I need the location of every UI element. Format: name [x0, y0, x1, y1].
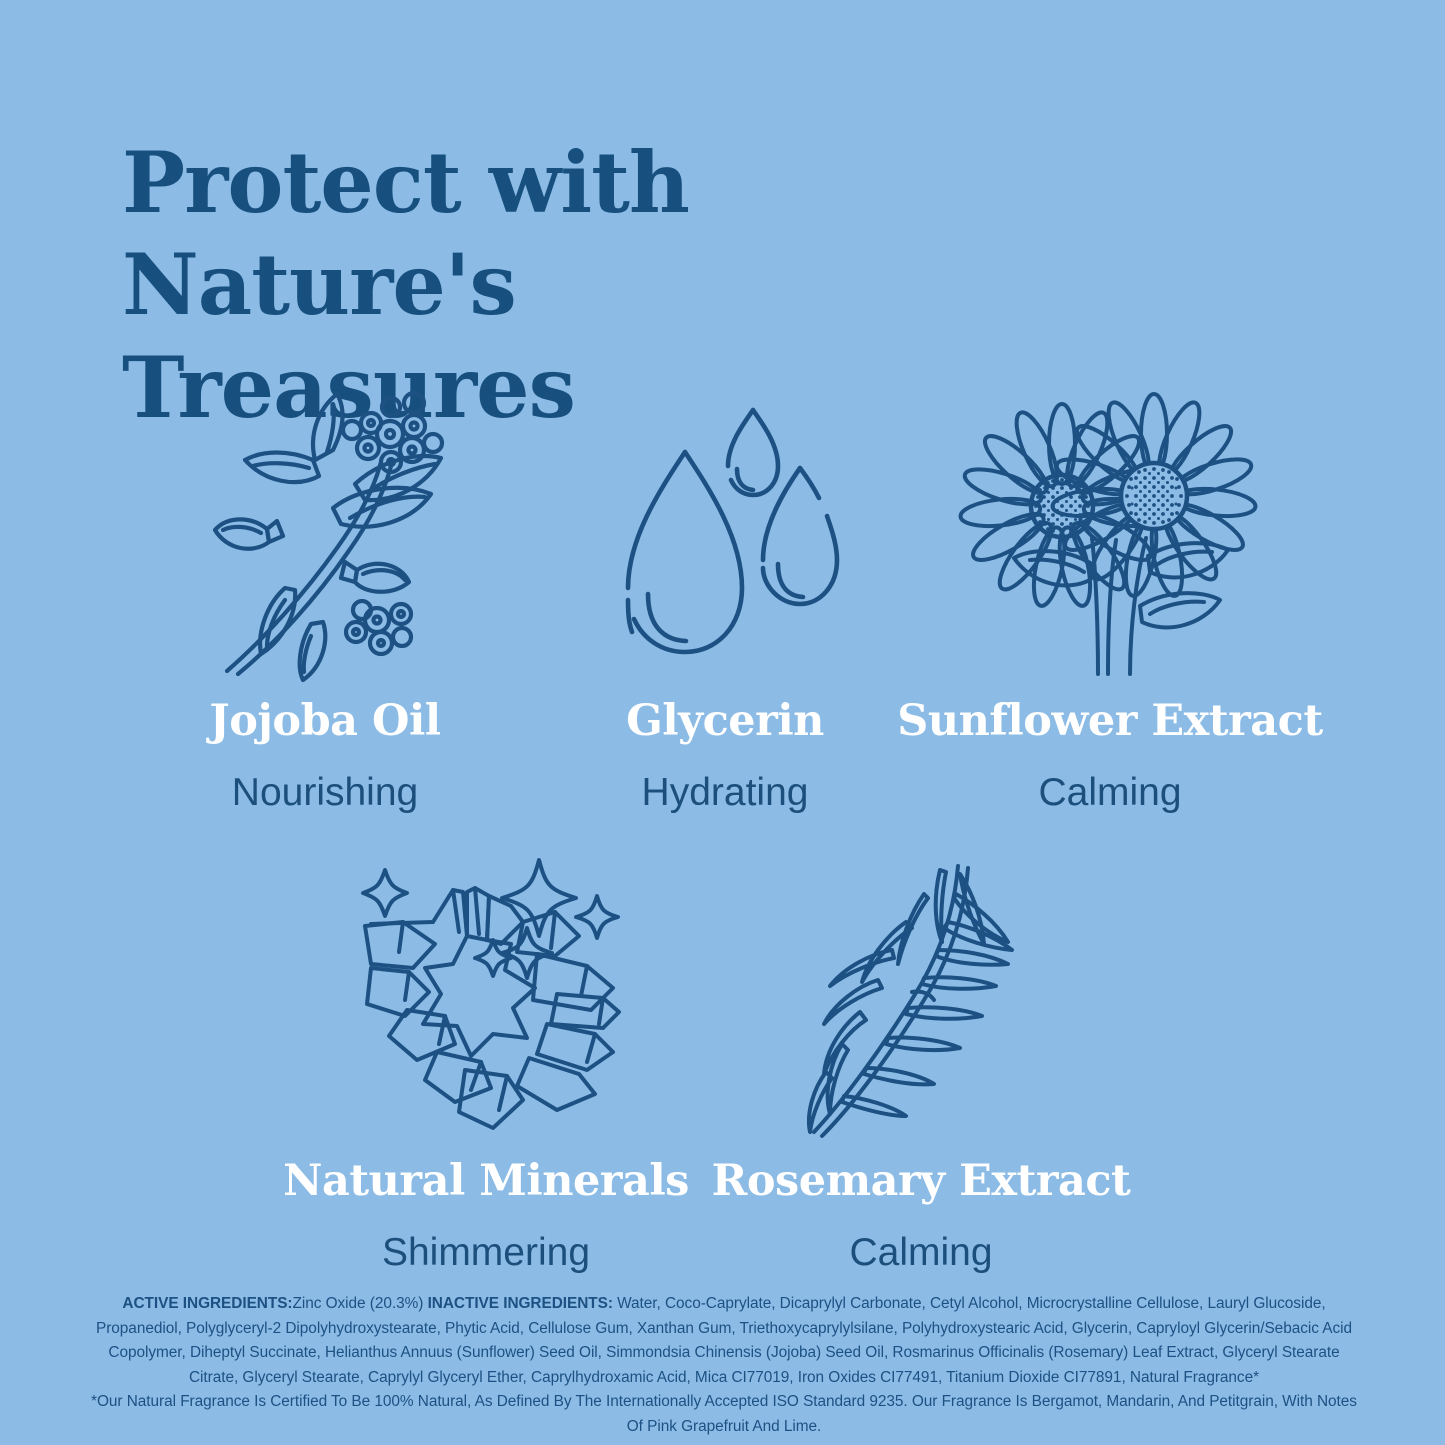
page-title-line-1: Protect with Nature's [122, 132, 1082, 337]
sunflowers-icon [970, 388, 1250, 678]
jojoba-sprig-icon [205, 388, 445, 678]
water-droplets-icon [610, 388, 840, 678]
ingredient-benefit: Shimmering [382, 1233, 590, 1272]
ingredient-benefit: Hydrating [642, 773, 809, 812]
ingredient-name: Rosemary Extract [712, 1160, 1131, 1203]
product-ingredient-infographic: Protect with Nature's Treasures [0, 0, 1445, 1445]
ingredient-name: Glycerin [626, 700, 824, 743]
mineral-crystals-icon [341, 848, 631, 1138]
inactive-ingredients-label: INACTIVE INGREDIENTS: [428, 1295, 613, 1312]
ingredient-name: Natural Minerals [283, 1160, 689, 1203]
rosemary-sprig-icon [796, 848, 1046, 1138]
ingredients-legal-text: ACTIVE INGREDIENTS:Zinc Oxide (20.3%) IN… [86, 1292, 1362, 1439]
fragrance-footnote: *Our Natural Fragrance Is Certified To B… [86, 1390, 1362, 1439]
ingredient-benefit: Calming [1038, 773, 1181, 812]
ingredient-card-sunflower-extract: Sunflower Extract Calming [920, 388, 1300, 812]
ingredient-name: Jojoba Oil [209, 700, 440, 743]
ingredient-card-rosemary-extract: Rosemary Extract Calming [735, 848, 1107, 1272]
active-ingredients-value: Zinc Oxide (20.3%) [293, 1295, 428, 1312]
ingredient-benefit: Nourishing [232, 773, 418, 812]
ingredient-card-natural-minerals: Natural Minerals Shimmering [300, 848, 672, 1272]
ingredient-benefit: Calming [849, 1233, 992, 1272]
ingredient-name: Sunflower Extract [897, 700, 1322, 743]
ingredient-card-jojoba-oil: Jojoba Oil Nourishing [145, 388, 505, 812]
active-ingredients-label: ACTIVE INGREDIENTS: [122, 1295, 292, 1312]
ingredient-card-glycerin: Glycerin Hydrating [545, 388, 905, 812]
